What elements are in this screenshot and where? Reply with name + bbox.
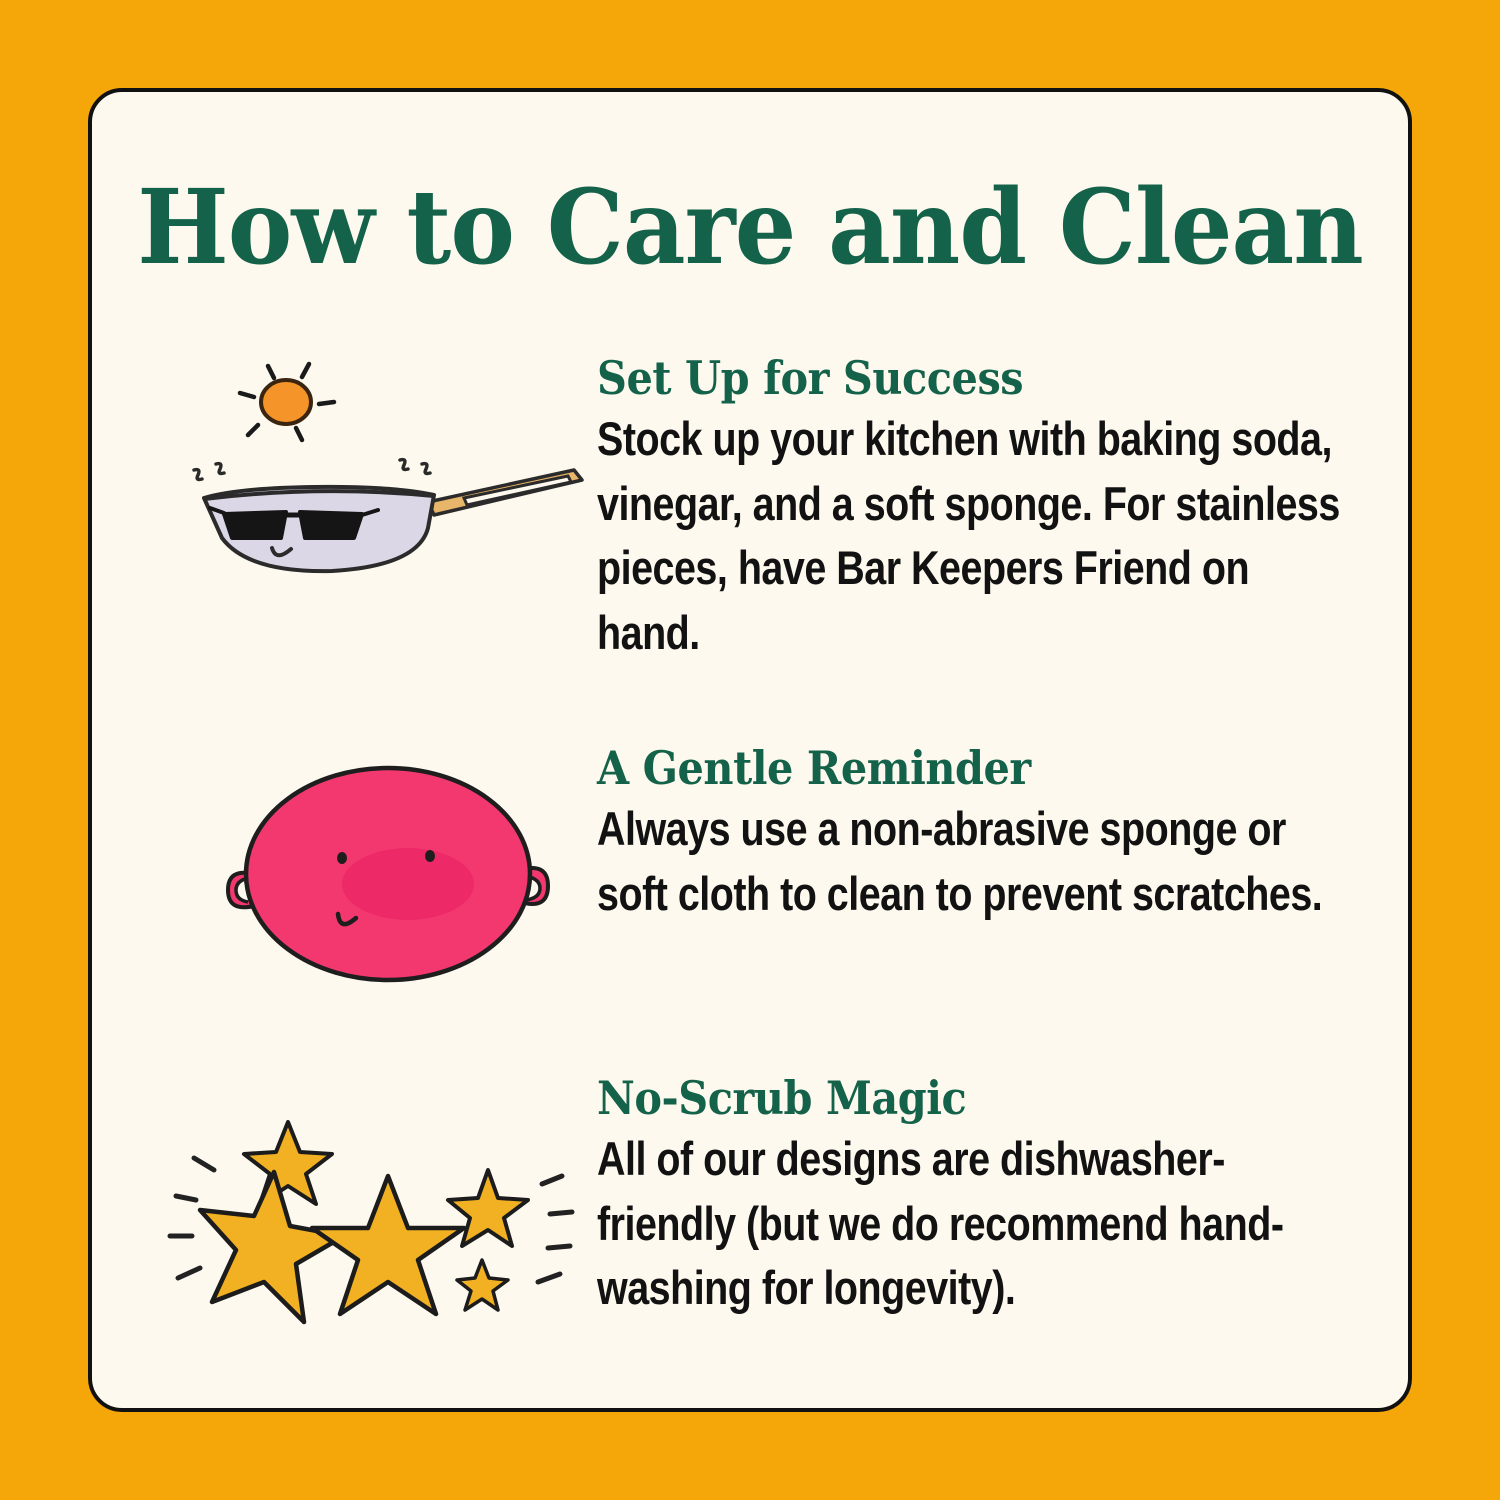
- info-card: How to Care and Clean: [88, 88, 1412, 1412]
- section-set-up-for-success: Set Up for Success Stock up your kitchen…: [152, 352, 1362, 666]
- star-medium-right: [448, 1170, 528, 1246]
- star-big-left: [200, 1172, 344, 1322]
- sun-icon: [261, 380, 311, 424]
- sparkle-squiggle-left-icon: [194, 464, 224, 480]
- poster-canvas: How to Care and Clean: [0, 0, 1500, 1500]
- section-heading: No-Scrub Magic: [597, 1074, 1286, 1123]
- sponge-eye-left: [337, 852, 347, 864]
- page-title: How to Care and Clean: [131, 176, 1368, 279]
- star-big-right: [312, 1176, 464, 1314]
- section-a-gentle-reminder: A Gentle Reminder Always use a non-abras…: [152, 742, 1362, 1012]
- illustration-pink-sponge-face: [152, 742, 597, 1012]
- illustration-frying-pan-with-sunglasses-and-sun: [152, 352, 597, 622]
- illustration-sparkle-stars: [152, 1072, 597, 1342]
- star-small-top: [244, 1122, 332, 1204]
- text-block-no-scrub-magic: No-Scrub Magic All of our designs are di…: [597, 1072, 1362, 1321]
- section-heading: Set Up for Success: [597, 354, 1286, 403]
- sparkle-squiggle-right-icon: [400, 460, 430, 474]
- section-heading: A Gentle Reminder: [597, 744, 1286, 793]
- section-no-scrub-magic: No-Scrub Magic All of our designs are di…: [152, 1072, 1362, 1342]
- text-block-set-up-for-success: Set Up for Success Stock up your kitchen…: [597, 352, 1362, 666]
- text-block-a-gentle-reminder: A Gentle Reminder Always use a non-abras…: [597, 742, 1362, 926]
- star-tiny-bottom: [457, 1260, 508, 1310]
- sparkle-dashes-right-icon: [538, 1176, 572, 1282]
- section-body: Stock up your kitchen with baking soda, …: [597, 407, 1362, 666]
- sponge-eye-right: [425, 850, 435, 862]
- section-body: All of our designs are dishwasher-friend…: [597, 1127, 1362, 1322]
- section-body: Always use a non-abrasive sponge or soft…: [597, 797, 1362, 927]
- sponge-blush: [342, 848, 474, 920]
